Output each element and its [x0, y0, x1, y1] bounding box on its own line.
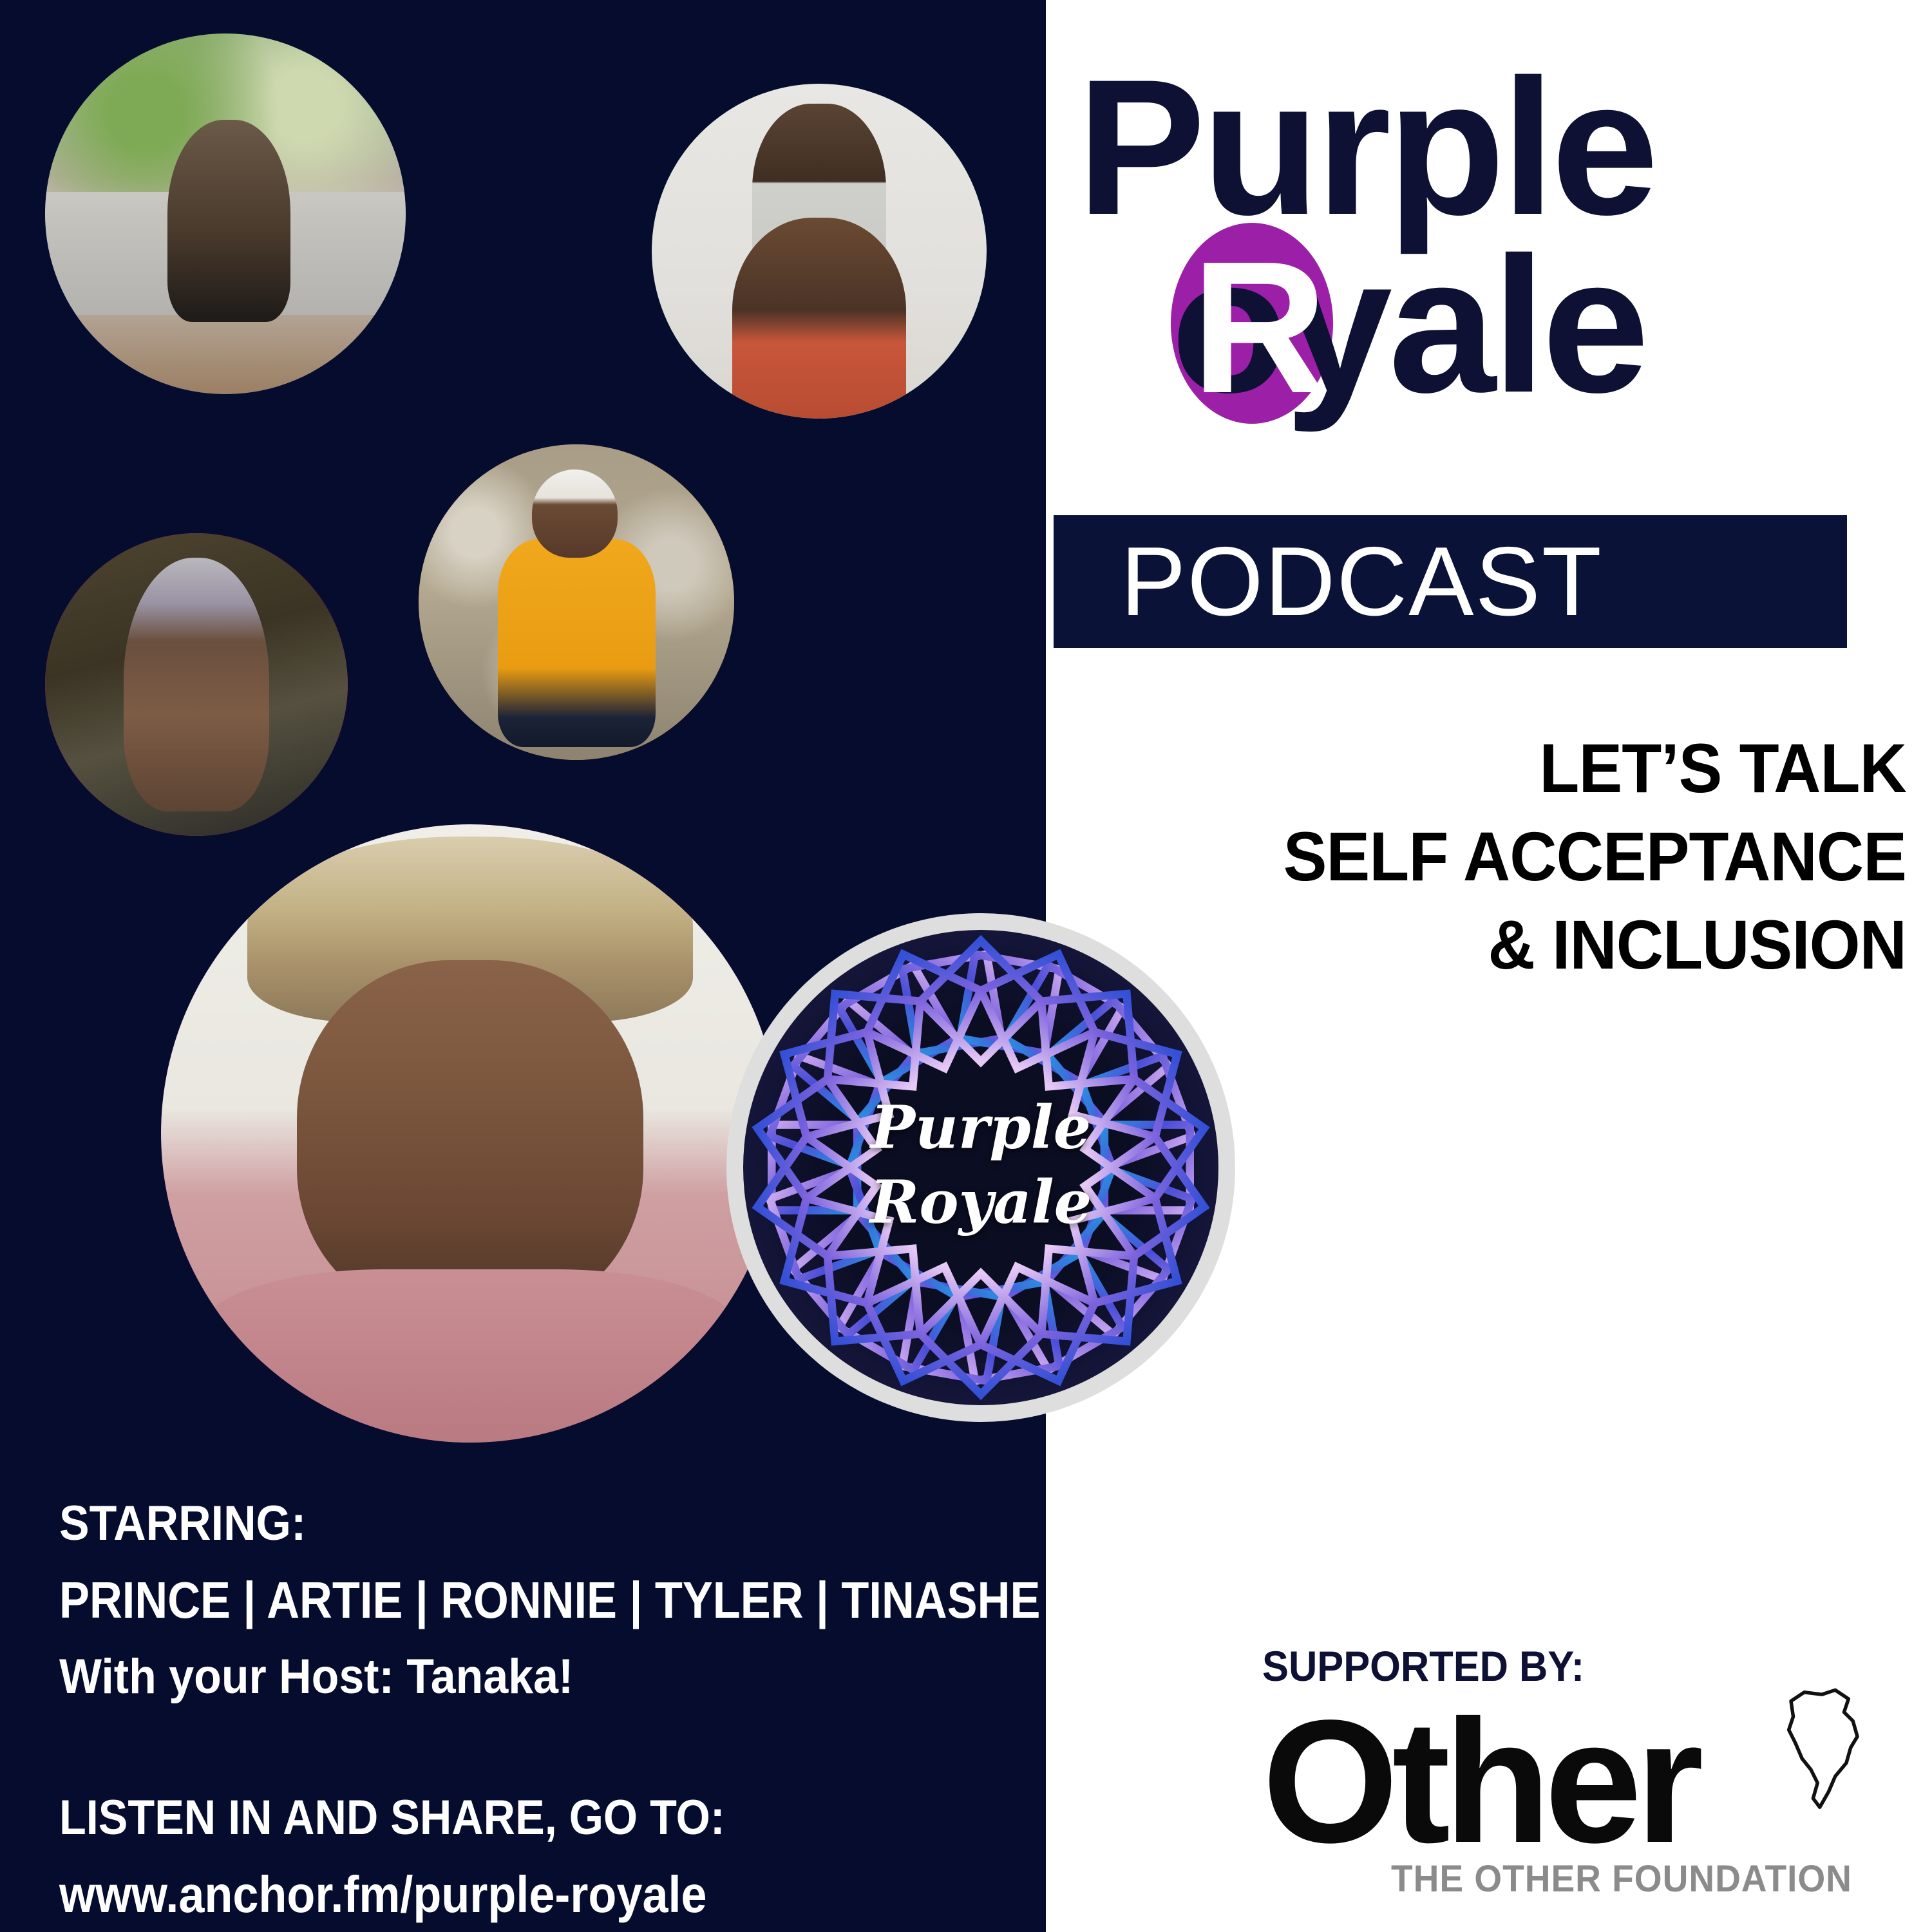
guest-photo-tinashe-image: [45, 533, 348, 836]
sponsor-block: SUPPORTED BY: Other THE OTHER FOUNDATION: [1262, 1641, 1906, 1886]
host-photo-tanaka: [161, 824, 779, 1443]
host-photo-tanaka-image: [161, 824, 779, 1443]
podcast-banner: PODCAST: [1054, 515, 1847, 648]
guest-photo-tinashe: [45, 533, 348, 836]
podcast-promo-poster: Purple R oyale PODCAST LET’S TALK SELF A…: [0, 0, 1932, 1932]
badge-text-line-1: Purple: [743, 1090, 1218, 1164]
brand-line-purple: Purple: [1077, 50, 1655, 243]
starring-label: STARRING:: [59, 1495, 936, 1552]
badge-text-line-2: Royale: [743, 1164, 1218, 1239]
purple-royale-badge-logo: Purple Royale: [726, 913, 1235, 1422]
guest-photo-ronnie-image: [419, 444, 734, 760]
episode-title-line-3: & INCLUSION: [1144, 900, 1906, 989]
sponsor-wordmark: Other: [1262, 1694, 1697, 1869]
guest-photo-ronnie: [419, 444, 734, 760]
guest-photo-prince-image: [45, 33, 406, 394]
sponsor-subtitle: THE OTHER FOUNDATION: [1391, 1859, 1852, 1900]
guest-photo-pair: [652, 84, 987, 419]
badge-text: Purple Royale: [743, 1090, 1218, 1239]
brand-wordmark: Purple R oyale: [1077, 50, 1920, 450]
listen-block: LISTEN IN AND SHARE, GO TO: www.anchor.f…: [59, 1789, 1012, 1926]
episode-title-line-1: LET’S TALK: [1144, 724, 1906, 812]
other-foundation-logo: Other THE OTHER FOUNDATION: [1262, 1705, 1906, 1886]
listen-call-to-action: LISTEN IN AND SHARE, GO TO:: [59, 1789, 917, 1847]
guest-photo-pair-image: [652, 84, 987, 419]
episode-title-line-2: SELF ACCEPTANCE: [1144, 812, 1906, 900]
brand-r-letter: R: [1191, 233, 1325, 421]
starring-credits: STARRING: PRINCE | ARTIE | RONNIE | TYLE…: [59, 1495, 1012, 1707]
host-credit: With your Host: Tanaka!: [59, 1647, 936, 1707]
podcast-banner-label: PODCAST: [1121, 533, 1603, 630]
cast-list: PRINCE | ARTIE | RONNIE | TYLER | TINASH…: [59, 1570, 898, 1631]
africa-outline-icon: [1771, 1683, 1882, 1816]
guest-photo-prince: [45, 33, 406, 394]
podcast-url[interactable]: www.anchor.fm/purple-royale: [59, 1864, 917, 1926]
